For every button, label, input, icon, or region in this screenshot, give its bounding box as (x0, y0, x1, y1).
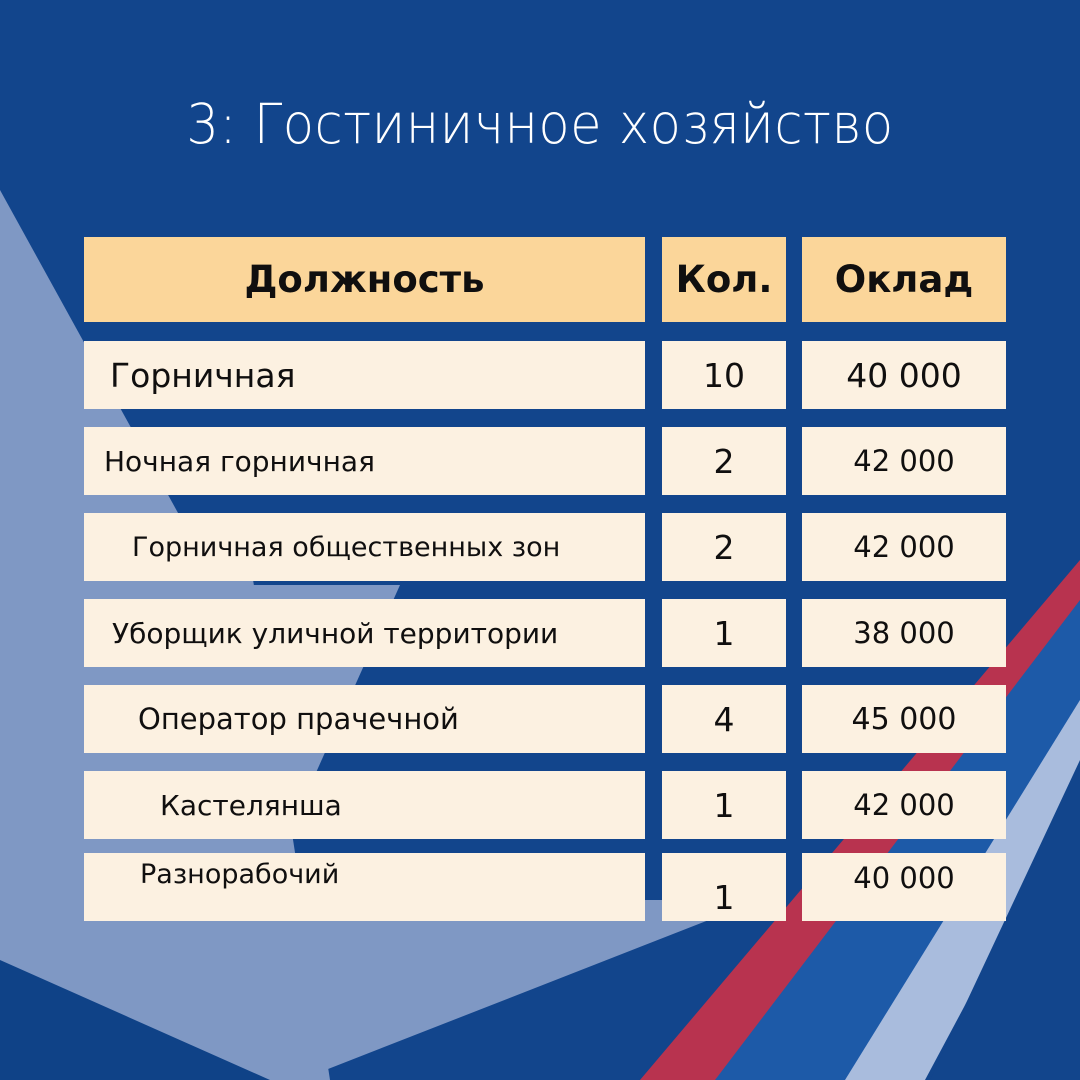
table-header-salary: Оклад (802, 237, 1006, 322)
table-row-salary: 38 000 (802, 599, 1006, 667)
table-row-count: 10 (662, 341, 786, 409)
table-row: Горничная (84, 341, 645, 409)
table-header-position: Должность (84, 237, 645, 322)
table-row-salary: 45 000 (802, 685, 1006, 753)
table-row: Горничная общественных зон (84, 513, 645, 581)
slide-canvas: 3: Гостиничное хозяйство Должность Кол. … (0, 0, 1080, 1080)
table-row: Оператор прачечной (84, 685, 645, 753)
table-row-count: 1 (662, 853, 786, 921)
table-row: Ночная горничная (84, 427, 645, 495)
table-row-count: 2 (662, 513, 786, 581)
table-row-salary: 40 000 (802, 341, 1006, 409)
table-row-count: 2 (662, 427, 786, 495)
table-row: Кастелянша (84, 771, 645, 839)
table-row-salary: 42 000 (802, 771, 1006, 839)
table-row: Уборщик уличной территории (84, 599, 645, 667)
page-title: 3: Гостиничное хозяйство (38, 92, 1042, 156)
table-row-count: 1 (662, 771, 786, 839)
table-row-salary: 40 000 (802, 853, 1006, 921)
salary-table: Должность Кол. Оклад Горничная 10 40 000… (0, 0, 1080, 1080)
table-row-count: 1 (662, 599, 786, 667)
table-header-count: Кол. (662, 237, 786, 322)
table-row: Разнорабочий (84, 853, 645, 921)
table-row-salary: 42 000 (802, 513, 1006, 581)
table-row-count: 4 (662, 685, 786, 753)
table-row-salary: 42 000 (802, 427, 1006, 495)
